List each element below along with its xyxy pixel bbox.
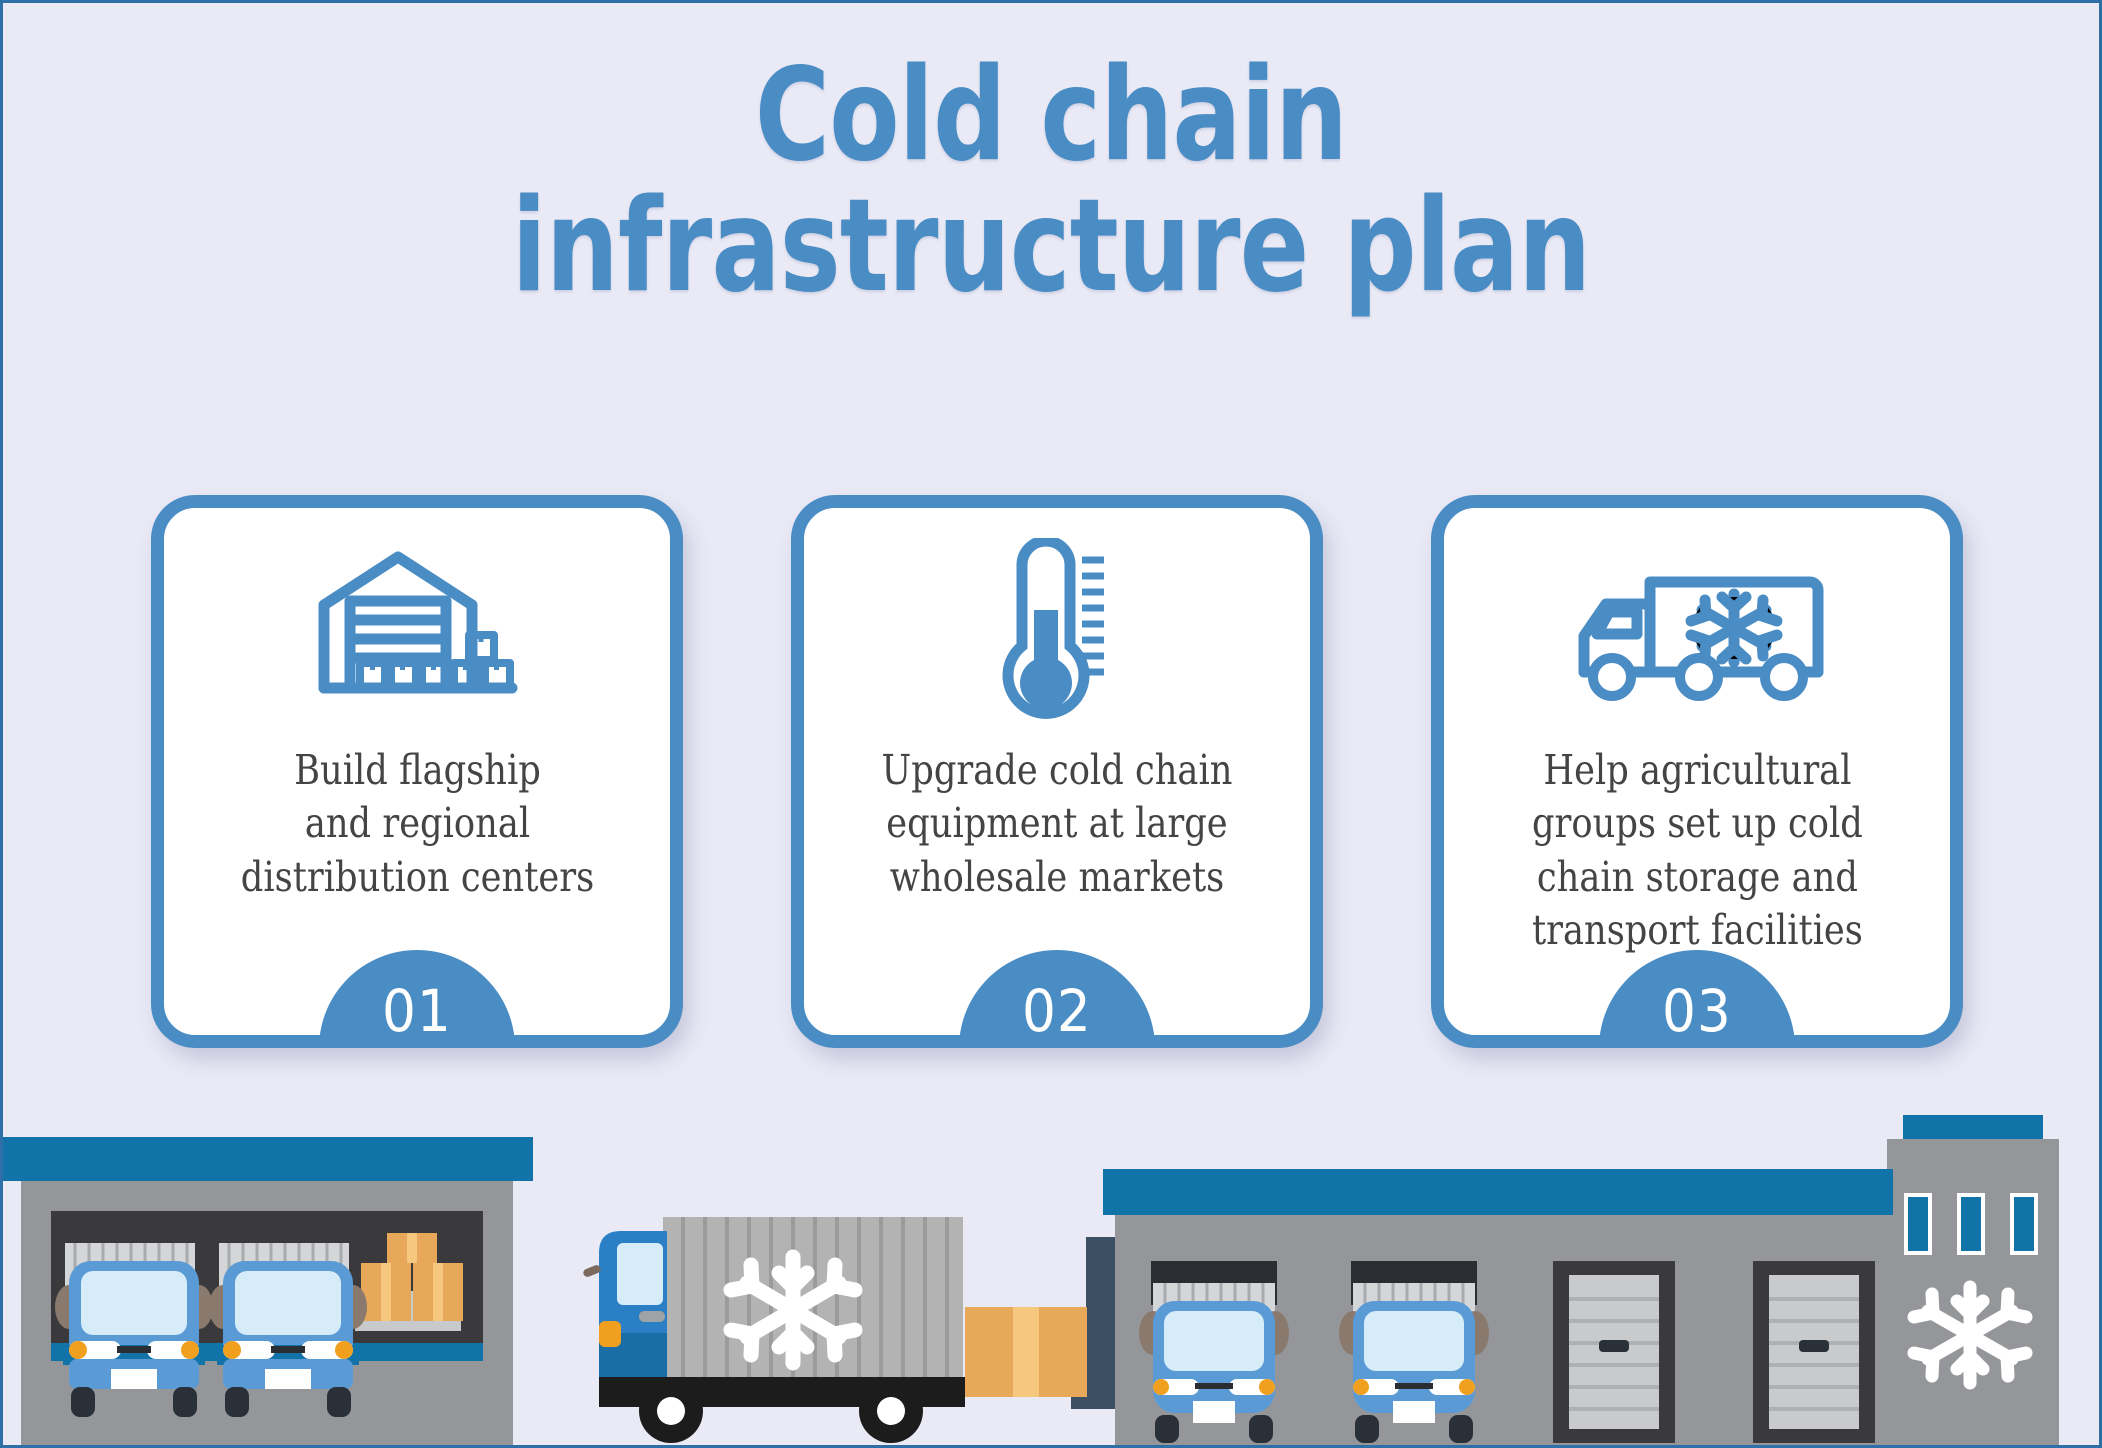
bottom-illustration: [3, 1115, 2102, 1445]
card-01-badge: 01: [319, 950, 515, 1048]
facility-truck-bay-1: [1139, 1261, 1289, 1443]
thermometer-icon: [982, 516, 1132, 744]
shutter-door-1: [1553, 1261, 1675, 1443]
refrigerated-truck-icon: [1562, 516, 1832, 744]
warehouse-icon: [302, 516, 532, 744]
card-02-number: 02: [1022, 982, 1092, 1040]
card-01[interactable]: Build flagship and regional distribution…: [151, 495, 683, 1048]
infographic-poster: Cold chain infrastructure plan: [0, 0, 2102, 1448]
card-03[interactable]: Help agricultural groups set up cold cha…: [1431, 495, 1963, 1048]
facility-truck-bay-2: [1339, 1261, 1489, 1443]
page-title: Cold chain infrastructure plan: [213, 51, 1890, 312]
card-01-text: Build flagship and regional distribution…: [235, 744, 599, 904]
card-02[interactable]: Upgrade cold chain equipment at large wh…: [791, 495, 1323, 1048]
cold-storage-facility: [1103, 1115, 2059, 1445]
shutter-door-2: [1753, 1261, 1875, 1443]
distribution-warehouse: [3, 1137, 533, 1445]
card-02-text: Upgrade cold chain equipment at large wh…: [876, 744, 1237, 904]
tower-windows: [1904, 1193, 2038, 1255]
card-02-badge: 02: [959, 950, 1155, 1048]
card-row: Build flagship and regional distribution…: [151, 495, 1963, 1063]
card-01-number: 01: [382, 982, 452, 1040]
refrigerated-delivery-truck: [582, 1217, 965, 1443]
card-03-badge: 03: [1599, 950, 1795, 1048]
card-03-number: 03: [1662, 982, 1732, 1040]
card-03-text: Help agricultural groups set up cold cha…: [1526, 744, 1867, 957]
